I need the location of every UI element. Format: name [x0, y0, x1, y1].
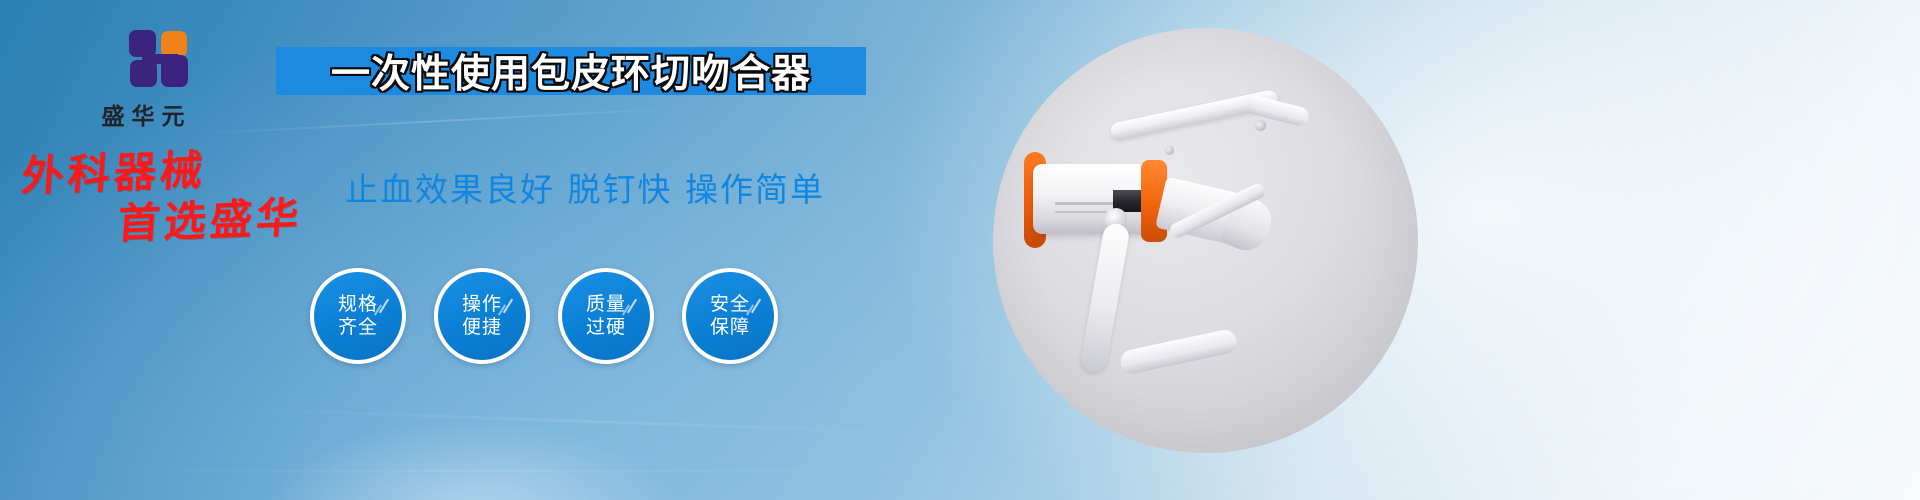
brand-name: 盛华元 — [68, 97, 218, 131]
background-glow — [260, 420, 680, 500]
calligraphy-line-1: 外科器械 — [20, 144, 354, 198]
feature-label-line2: 齐全 — [338, 316, 378, 339]
brand-logo[interactable]: 盛华元 — [68, 30, 218, 131]
logo-square-purple-top — [129, 30, 156, 57]
page-title: 一次性使用包皮环切吻合器 — [331, 43, 811, 99]
feature-label-line2: 保障 — [710, 316, 750, 339]
feature-label-line2: 过硬 — [586, 316, 626, 339]
title-bar: 一次性使用包皮环切吻合器 — [276, 47, 866, 95]
feature-label-line1: 安全 — [710, 293, 750, 316]
feature-badge[interactable]: 规格 齐全 — [310, 268, 406, 364]
feature-badge-list: 规格 齐全 操作 便捷 质量 过硬 安全 保障 — [310, 268, 778, 364]
feature-badge[interactable]: 质量 过硬 — [558, 268, 654, 364]
product-image — [993, 28, 1418, 453]
logo-square-purple-bottom-left — [130, 60, 157, 87]
calligraphy-line-2: 首选盛华 — [116, 195, 354, 246]
promo-banner: 盛华元 外科器械 首选盛华 一次性使用包皮环切吻合器 止血效果良好 脱钉快 操作… — [0, 0, 1920, 500]
light-streak — [180, 106, 699, 135]
feature-label-line1: 质量 — [586, 293, 626, 316]
calligraphy-slogan: 外科器械 首选盛华 — [22, 150, 352, 242]
feature-badge[interactable]: 操作 便捷 — [434, 268, 530, 364]
product-vignette — [993, 28, 1418, 453]
feature-label-line1: 操作 — [462, 293, 502, 316]
feature-label-line1: 规格 — [338, 293, 378, 316]
subtitle: 止血效果良好 脱钉快 操作简单 — [345, 163, 905, 211]
logo-mark-icon — [106, 30, 180, 90]
feature-badge[interactable]: 安全 保障 — [682, 268, 778, 364]
feature-label-line2: 便捷 — [462, 316, 502, 339]
logo-square-purple-bottom-right — [161, 55, 188, 87]
